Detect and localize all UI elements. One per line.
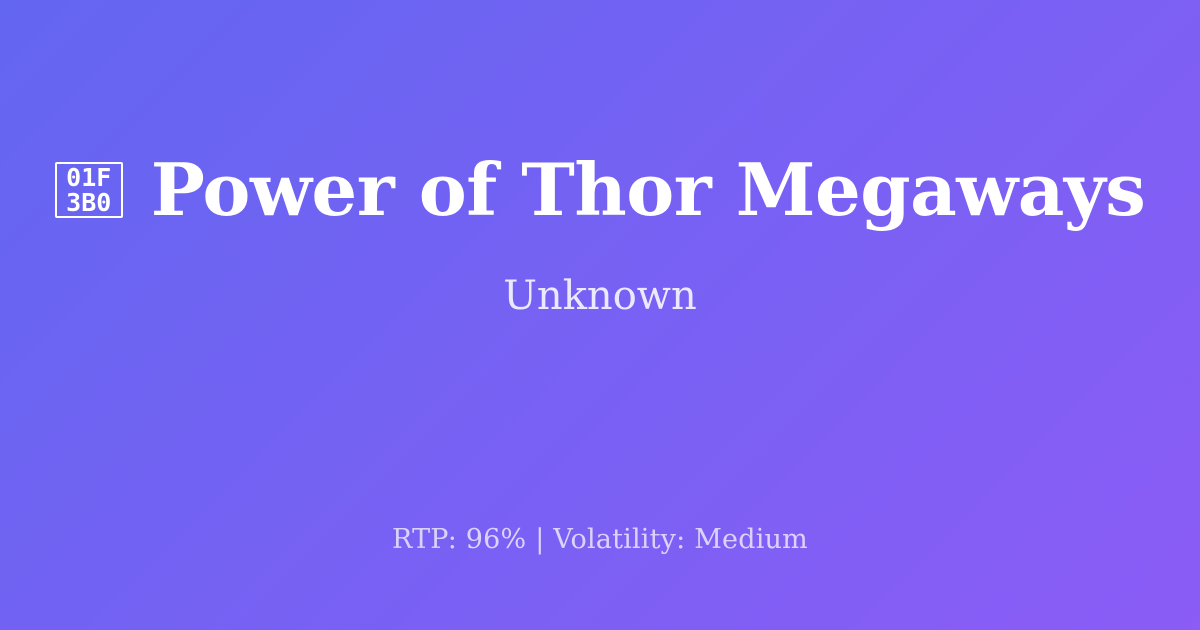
game-stats: RTP: 96% | Volatility: Medium	[392, 524, 808, 556]
slot-machine-icon: 01F 3B0	[55, 162, 123, 218]
slot-machine-icon-codepoint-high: 01F	[66, 165, 111, 190]
title-block: 01F 3B0 Power of Thor Megaways Unknown	[0, 0, 1200, 470]
page-title: Power of Thor Megaways	[151, 152, 1146, 228]
provider-name: Unknown	[503, 274, 697, 318]
og-card: 01F 3B0 Power of Thor Megaways Unknown R…	[0, 0, 1200, 630]
slot-machine-icon-codepoint-low: 3B0	[66, 190, 111, 215]
title-stack: 01F 3B0 Power of Thor Megaways Unknown	[40, 152, 1160, 318]
stats-bar: RTP: 96% | Volatility: Medium	[0, 524, 1200, 556]
headline: 01F 3B0 Power of Thor Megaways	[55, 152, 1146, 228]
